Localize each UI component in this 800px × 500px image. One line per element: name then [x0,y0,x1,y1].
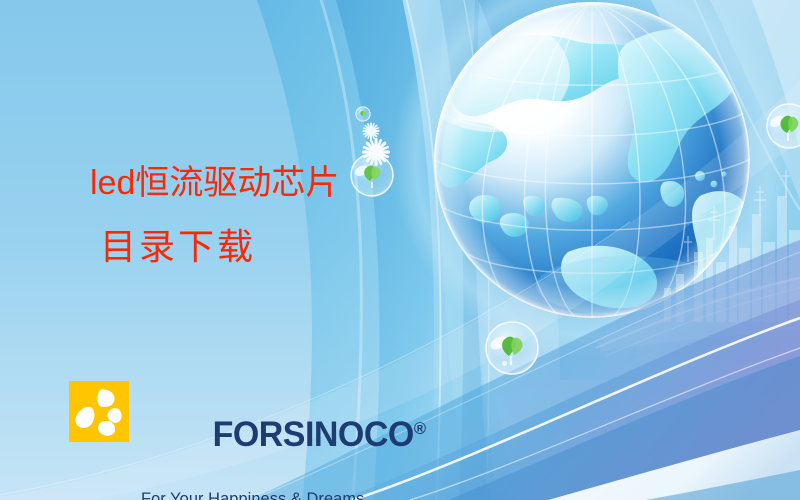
brand-name-text: FORSINOCO [213,415,414,454]
registered-trademark-icon: ® [414,419,426,438]
sparkle-icon [362,122,379,139]
headline-block: led恒流驱动芯片 目录下载 [88,166,339,266]
headline-line-2: 目录下载 [88,230,339,266]
promo-banner: led恒流驱动芯片 目录下载 FORSINOCO® For Your Happi… [0,0,800,500]
bubble-with-leaf [351,154,393,196]
brand-tagline: For Your Happiness & Dreams [141,490,432,500]
brand-name: FORSINOCO® [141,382,426,487]
bubble-with-leaf [486,322,538,374]
brand-text-block: FORSINOCO® For Your Happiness & Dreams [141,381,435,500]
brand-lockup: FORSINOCO® For Your Happiness & Dreams [69,381,435,500]
four-petal-pinwheel-icon [75,389,121,435]
headline-line-1: led恒流驱动芯片 [88,166,339,200]
brand-logo-mark [69,381,129,442]
bubble-with-leaf [356,107,370,121]
